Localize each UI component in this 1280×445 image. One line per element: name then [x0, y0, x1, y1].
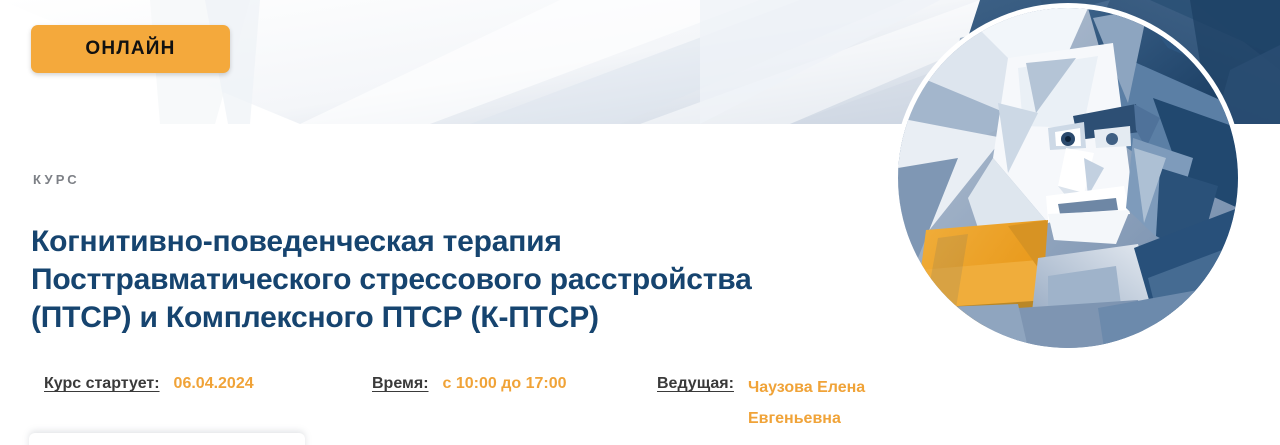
meta-time: Время: с 10:00 до 17:00	[372, 372, 567, 396]
online-badge[interactable]: ОНЛАЙН	[31, 25, 230, 73]
meta-host-label: Ведущая:	[657, 372, 734, 396]
course-portrait-image	[898, 8, 1238, 348]
meta-start-date-label: Курс стартует:	[44, 372, 160, 396]
title-line-3: (ПТСР) и Комплексного ПТСР (К-ПТСР)	[31, 299, 841, 337]
page-title: Когнитивно-поведенческая терапия Посттра…	[31, 223, 841, 337]
meta-host-value: Чаузова Елена Евгеньевна	[748, 372, 898, 434]
meta-time-value: с 10:00 до 17:00	[443, 372, 567, 396]
course-eyebrow-label: КУРС	[33, 172, 80, 187]
bottom-card-edge[interactable]	[29, 433, 305, 445]
course-banner: ОНЛАЙН КУРС Когнитивно-поведенческая тер…	[0, 0, 1280, 445]
meta-start-date: Курс стартует: 06.04.2024	[44, 372, 254, 396]
meta-time-label: Время:	[372, 372, 429, 396]
course-meta-row: Курс стартует: 06.04.2024 Время: с 10:00…	[33, 372, 1223, 442]
title-line-2: Посттравматического стрессового расстрой…	[31, 261, 841, 299]
title-line-1: Когнитивно-поведенческая терапия	[31, 223, 841, 261]
meta-host: Ведущая: Чаузова Елена Евгеньевна	[657, 372, 898, 434]
meta-start-date-value: 06.04.2024	[174, 372, 254, 396]
